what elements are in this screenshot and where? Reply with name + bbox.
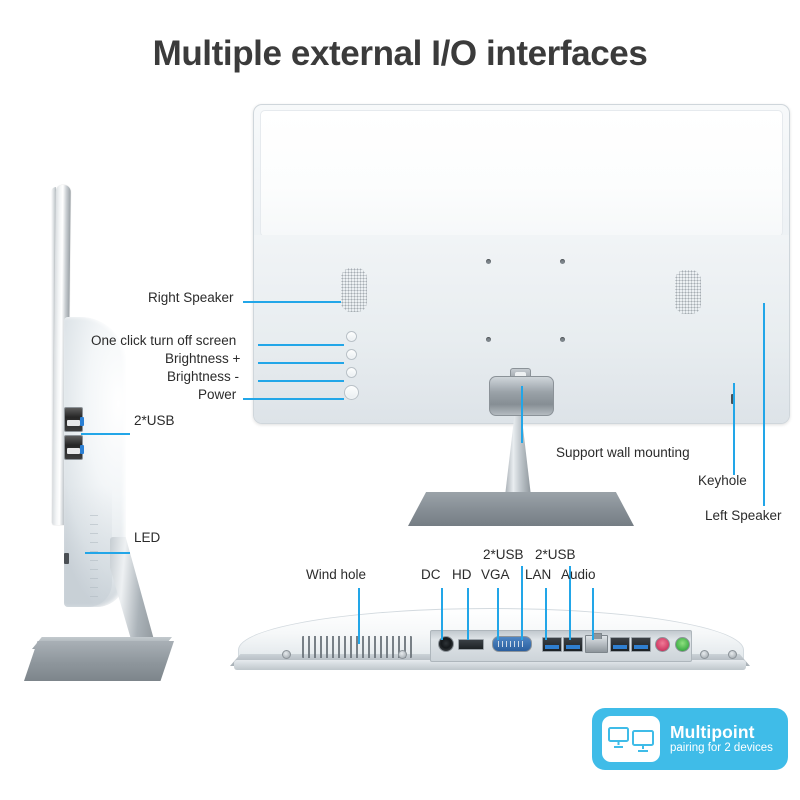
screw-left — [282, 650, 291, 659]
multipoint-title: Multipoint — [670, 723, 773, 743]
leader-usb-left — [521, 566, 523, 640]
back-view-illustration — [253, 104, 790, 424]
label-left-speaker: Left Speaker — [705, 509, 782, 523]
screw-mid-left — [398, 650, 407, 659]
leader-brightness-up — [258, 362, 344, 364]
label-vga: VGA — [481, 568, 510, 582]
leader-vga — [497, 588, 499, 640]
stand-base-plate — [408, 492, 634, 526]
label-brightness-down: Brightness - — [167, 370, 239, 384]
screw-right — [728, 650, 737, 659]
leader-right-speaker — [243, 301, 341, 303]
page-title: Multiple external I/O interfaces — [0, 34, 800, 74]
stand-neck — [505, 416, 531, 496]
dual-monitor-icon — [602, 716, 660, 762]
side-usb-tongue-1 — [80, 417, 84, 426]
leader-lan — [545, 588, 547, 640]
label-usb-right: 2*USB — [535, 548, 576, 562]
label-right-speaker: Right Speaker — [148, 291, 234, 305]
label-wall-mount: Support wall mounting — [556, 446, 690, 460]
label-side-led: LED — [134, 531, 160, 545]
usb-port-right-1 — [610, 637, 630, 652]
leader-wind-hole — [358, 588, 360, 644]
audio-jack — [675, 637, 690, 652]
leader-side-usb — [81, 433, 130, 435]
multipoint-text: Multipoint pairing for 2 devices — [670, 723, 773, 755]
side-view-illustration — [18, 185, 198, 695]
leader-brightness-down — [258, 380, 344, 382]
leader-left-speaker — [763, 303, 765, 506]
label-lan: LAN — [525, 568, 551, 582]
left-speaker-grille — [675, 270, 701, 314]
usb-port-left-2 — [563, 637, 583, 652]
leader-side-led — [85, 552, 130, 554]
label-dc: DC — [421, 568, 441, 582]
lan-port — [585, 635, 608, 653]
side-rear-shading — [64, 485, 112, 607]
vesa-hole-top-right — [560, 259, 565, 264]
wind-hole-vents — [302, 636, 412, 658]
leader-wall-mount — [521, 386, 523, 443]
multipoint-badge[interactable]: Multipoint pairing for 2 devices — [592, 708, 788, 770]
vesa-hole-top-left — [486, 259, 491, 264]
label-side-usb: 2*USB — [134, 414, 175, 428]
label-keyhole: Keyhole — [698, 474, 747, 488]
side-base-plate — [24, 641, 174, 681]
right-speaker-grille — [341, 268, 367, 312]
vesa-hole-bottom-right — [560, 337, 565, 342]
button-one-click-off[interactable] — [346, 331, 357, 342]
leader-keyhole — [733, 383, 735, 475]
leader-dc — [441, 588, 443, 640]
label-usb-left: 2*USB — [483, 548, 524, 562]
label-hd: HD — [452, 568, 472, 582]
label-one-click-off: One click turn off screen — [91, 334, 236, 348]
button-brightness-down[interactable] — [346, 367, 357, 378]
product-diagram: Multiple external I/O interfaces — [0, 0, 800, 800]
rear-upper-panel — [260, 110, 783, 237]
label-wind-hole: Wind hole — [306, 568, 366, 582]
leader-audio — [592, 588, 594, 640]
usb-port-right-2 — [631, 637, 651, 652]
leader-one-click-off — [258, 344, 344, 346]
screw-mid-right — [700, 650, 709, 659]
leader-power — [243, 398, 344, 400]
side-vent-lines — [90, 515, 98, 605]
side-usb-tongue-2 — [80, 445, 84, 454]
leader-hd — [467, 588, 469, 640]
multipoint-subtitle: pairing for 2 devices — [670, 742, 773, 755]
vesa-hole-bottom-left — [486, 337, 491, 342]
mic-jack — [655, 637, 670, 652]
side-led-indicator — [64, 553, 69, 564]
button-brightness-up[interactable] — [346, 349, 357, 360]
hdmi-port — [458, 639, 484, 650]
label-audio: Audio — [561, 568, 596, 582]
bottom-view-illustration — [230, 598, 750, 694]
label-power: Power — [198, 388, 236, 402]
button-power[interactable] — [344, 385, 359, 400]
label-brightness-up: Brightness + — [165, 352, 240, 366]
